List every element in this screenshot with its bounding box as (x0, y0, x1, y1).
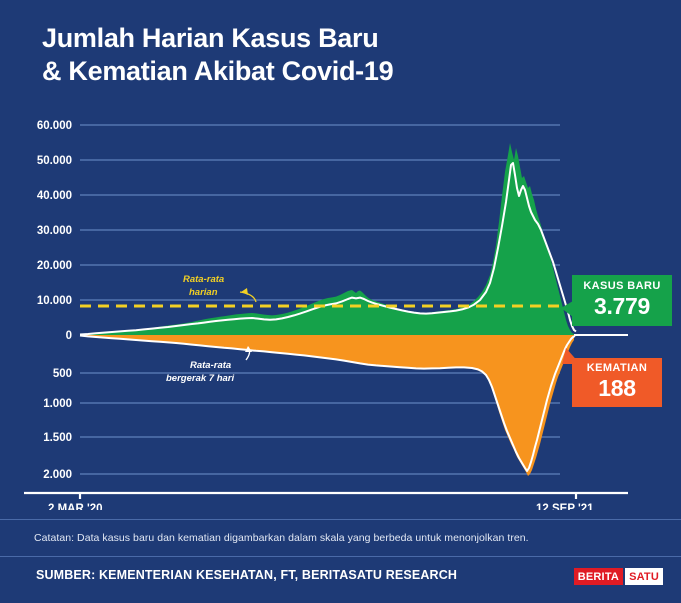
svg-text:1.500: 1.500 (43, 432, 72, 444)
svg-text:1.000: 1.000 (43, 398, 72, 410)
svg-text:30.000: 30.000 (37, 225, 72, 237)
x-axis-label-start: 2 MAR '20 (48, 503, 103, 510)
callout-kasus-baru-tail (561, 301, 573, 317)
svg-text:10.000: 10.000 (37, 295, 72, 307)
svg-text:40.000: 40.000 (37, 190, 72, 202)
annotation-daily-average: Rata-rata harian (183, 274, 256, 302)
callout-kematian-tail (562, 348, 580, 364)
y-axis-labels-cases: 60.000 50.000 40.000 30.000 20.000 10.00… (37, 120, 72, 342)
svg-text:60.000: 60.000 (37, 120, 72, 132)
callout-kasus-baru-value: 3.779 (576, 295, 668, 318)
annotation-moving-average: Rata-rata bergerak 7 hari (166, 346, 252, 384)
callout-kasus-baru-label: KASUS BARU (576, 281, 668, 292)
svg-text:0: 0 (66, 330, 72, 342)
covid-daily-chart: 60.000 50.000 40.000 30.000 20.000 10.00… (0, 0, 681, 510)
x-axis-label-end: 12 SEP '21 (536, 503, 594, 510)
footer-divider-top (0, 519, 681, 520)
beritasatu-logo: BERITA SATU (574, 568, 663, 585)
callout-kematian-value: 188 (576, 377, 658, 400)
svg-text:20.000: 20.000 (37, 260, 72, 272)
svg-text:2.000: 2.000 (43, 469, 72, 481)
footer-source: SUMBER: KEMENTERIAN KESEHATAN, FT, BERIT… (36, 568, 457, 582)
svg-text:50.000: 50.000 (37, 155, 72, 167)
annotation-daily-average-line1: Rata-rata (183, 274, 224, 285)
y-axis-labels-deaths: 500 1.000 1.500 2.000 (43, 368, 72, 481)
callout-kasus-baru[interactable]: KASUS BARU 3.779 (572, 275, 672, 326)
beritasatu-logo-berita: BERITA (574, 568, 623, 585)
chart-container: 60.000 50.000 40.000 30.000 20.000 10.00… (0, 0, 681, 510)
annotation-daily-average-line2: harian (189, 287, 218, 298)
footer-divider-bottom (0, 556, 681, 557)
gridlines-deaths (80, 373, 560, 474)
gridlines-cases (80, 125, 560, 300)
annotation-moving-average-line2: bergerak 7 hari (166, 373, 234, 384)
deaths-area (80, 335, 574, 476)
callout-kematian[interactable]: KEMATIAN 188 (572, 358, 662, 407)
svg-text:500: 500 (53, 368, 72, 380)
footer-note: Catatan: Data kasus baru dan kematian di… (34, 532, 654, 544)
callout-kematian-label: KEMATIAN (576, 363, 658, 374)
annotation-moving-average-line1: Rata-rata (190, 360, 231, 371)
beritasatu-logo-satu: SATU (625, 568, 663, 585)
infographic-root: Jumlah Harian Kasus Baru & Kematian Akib… (0, 0, 681, 603)
